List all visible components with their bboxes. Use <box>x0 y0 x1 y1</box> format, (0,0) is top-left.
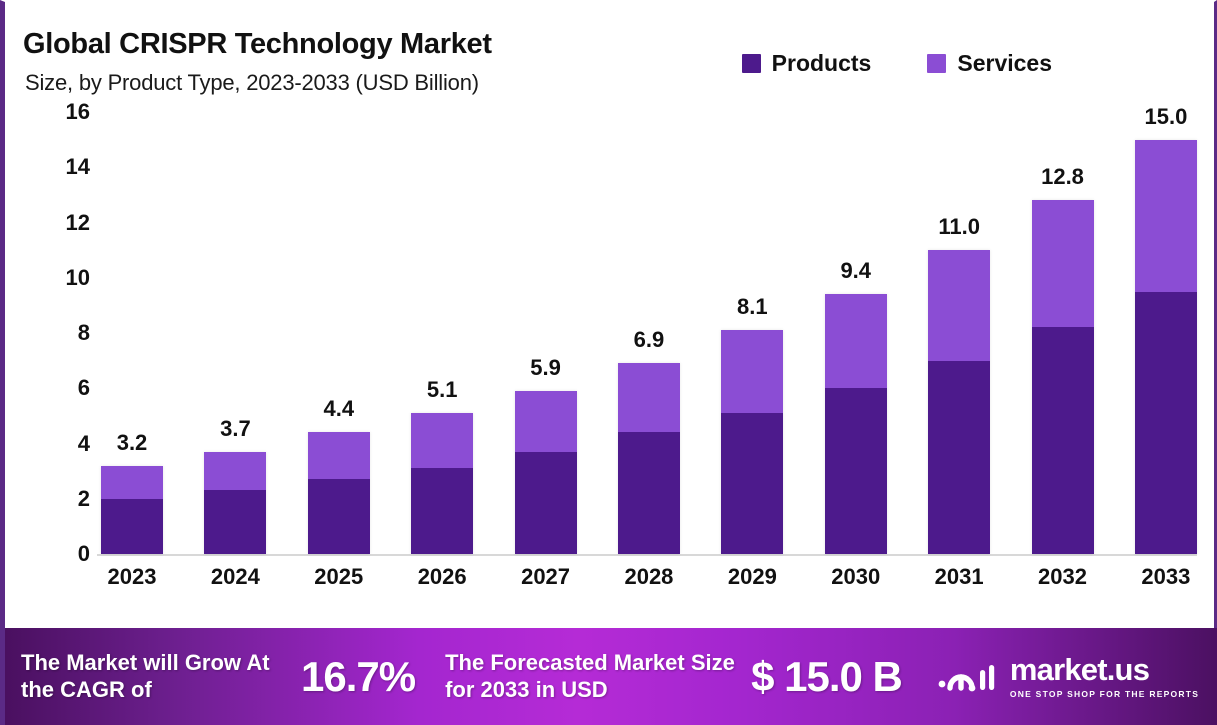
x-axis-line <box>97 554 1197 556</box>
bar-value-label: 5.9 <box>530 355 561 381</box>
bar-segment-products[interactable] <box>204 490 266 554</box>
bar-value-label: 3.7 <box>220 416 251 442</box>
y-axis-tick: 4 <box>78 431 90 457</box>
stacked-bar[interactable] <box>721 330 783 554</box>
legend-swatch-icon <box>742 54 761 73</box>
stacked-bar[interactable] <box>1032 200 1094 554</box>
bar-segment-services[interactable] <box>1135 140 1197 292</box>
bar-group-2026[interactable]: 5.1 <box>411 112 473 554</box>
bar-segment-services[interactable] <box>618 363 680 432</box>
y-axis: 0246810121416 <box>45 112 90 557</box>
stacked-bar[interactable] <box>618 363 680 554</box>
bar-group-2028[interactable]: 6.9 <box>618 112 680 554</box>
bar-value-label: 6.9 <box>634 327 665 353</box>
stacked-bar[interactable] <box>1135 140 1197 554</box>
y-axis-tick: 14 <box>66 154 90 180</box>
bar-segment-services[interactable] <box>825 294 887 388</box>
bar-segment-products[interactable] <box>411 468 473 554</box>
bar-group-2027[interactable]: 5.9 <box>515 112 577 554</box>
x-axis-tick: 2030 <box>825 564 887 610</box>
bar-value-label: 11.0 <box>938 214 980 240</box>
bar-segment-products[interactable] <box>928 361 990 554</box>
x-axis-tick: 2031 <box>928 564 990 610</box>
bar-group-2024[interactable]: 3.7 <box>204 112 266 554</box>
bar-segment-services[interactable] <box>1032 200 1094 327</box>
bar-group-2031[interactable]: 11.0 <box>928 112 990 554</box>
bar-group-2023[interactable]: 3.2 <box>101 112 163 554</box>
stacked-bar[interactable] <box>204 452 266 554</box>
x-axis-tick: 2027 <box>515 564 577 610</box>
x-axis-tick: 2029 <box>721 564 783 610</box>
plot-area: 0246810121416 3.23.74.45.15.96.98.19.411… <box>5 112 1217 622</box>
stacked-bar[interactable] <box>825 294 887 554</box>
x-axis-tick: 2032 <box>1032 564 1094 610</box>
y-axis-tick: 12 <box>66 210 90 236</box>
bar-group-2030[interactable]: 9.4 <box>825 112 887 554</box>
forecast-value: $ 15.0 B <box>751 651 902 702</box>
cagr-label: The Market will Grow At the CAGR of <box>21 650 299 704</box>
stacked-bar[interactable] <box>308 432 370 554</box>
page-subtitle: Size, by Product Type, 2023-2033 (USD Bi… <box>25 70 479 96</box>
bar-segment-services[interactable] <box>204 452 266 491</box>
bar-segment-services[interactable] <box>721 330 783 413</box>
legend-item-products[interactable]: Products <box>742 50 872 77</box>
bar-segment-services[interactable] <box>308 432 370 479</box>
bar-value-label: 8.1 <box>737 294 768 320</box>
bar-segment-products[interactable] <box>1032 327 1094 554</box>
brand-name: market.us <box>1010 654 1199 685</box>
x-axis-tick: 2025 <box>308 564 370 610</box>
bar-segment-products[interactable] <box>101 499 163 554</box>
chart-header: Global CRISPR Technology Market Size, by… <box>5 2 1217 112</box>
stacked-bar[interactable] <box>411 413 473 554</box>
cagr-value: 16.7% <box>301 651 415 702</box>
y-axis-tick: 8 <box>78 320 90 346</box>
bar-value-label: 12.8 <box>1041 164 1084 190</box>
stacked-bar[interactable] <box>928 250 990 554</box>
bar-group-2032[interactable]: 12.8 <box>1032 112 1094 554</box>
forecast-label: The Forecasted Market Size for 2033 in U… <box>445 650 745 704</box>
brand-text: market.us ONE STOP SHOP FOR THE REPORTS <box>1010 654 1199 699</box>
bar-value-label: 3.2 <box>117 430 148 456</box>
bar-value-label: 9.4 <box>840 258 871 284</box>
stacked-bar[interactable] <box>101 466 163 554</box>
bar-value-label: 4.4 <box>323 396 354 422</box>
bar-segment-products[interactable] <box>308 479 370 554</box>
bar-value-label: 5.1 <box>427 377 458 403</box>
bar-segment-products[interactable] <box>721 413 783 554</box>
footer-banner: The Market will Grow At the CAGR of 16.7… <box>5 628 1217 725</box>
x-axis-tick: 2033 <box>1135 564 1197 610</box>
x-axis-tick: 2026 <box>411 564 473 610</box>
bar-series-container: 3.23.74.45.15.96.98.19.411.012.815.0 <box>101 112 1197 554</box>
chart-page: Global CRISPR Technology Market Size, by… <box>0 0 1217 725</box>
bar-group-2029[interactable]: 8.1 <box>721 112 783 554</box>
y-axis-tick: 2 <box>78 486 90 512</box>
bar-segment-services[interactable] <box>515 391 577 452</box>
market-us-logo-icon <box>936 657 998 697</box>
x-axis-tick: 2028 <box>618 564 680 610</box>
bar-segment-services[interactable] <box>928 250 990 361</box>
chart-legend: ProductsServices <box>742 50 1052 77</box>
legend-label: Products <box>772 50 872 77</box>
legend-label: Services <box>957 50 1052 77</box>
bar-value-label: 15.0 <box>1144 104 1187 130</box>
bar-group-2025[interactable]: 4.4 <box>308 112 370 554</box>
legend-item-services[interactable]: Services <box>927 50 1052 77</box>
x-axis-tick: 2024 <box>204 564 266 610</box>
bar-segment-products[interactable] <box>825 388 887 554</box>
bar-segment-services[interactable] <box>101 466 163 499</box>
y-axis-tick: 10 <box>66 265 90 291</box>
bar-segment-products[interactable] <box>1135 292 1197 554</box>
brand-logo: market.us ONE STOP SHOP FOR THE REPORTS <box>936 654 1199 699</box>
page-title: Global CRISPR Technology Market <box>23 28 492 61</box>
y-axis-tick: 6 <box>78 375 90 401</box>
x-axis: 2023202420252026202720282029203020312032… <box>101 564 1197 610</box>
bar-segment-products[interactable] <box>515 452 577 554</box>
bar-segment-services[interactable] <box>411 413 473 468</box>
x-axis-tick: 2023 <box>101 564 163 610</box>
bar-group-2033[interactable]: 15.0 <box>1135 112 1197 554</box>
legend-swatch-icon <box>927 54 946 73</box>
y-axis-tick: 0 <box>78 541 90 567</box>
stacked-bar[interactable] <box>515 391 577 554</box>
bar-segment-products[interactable] <box>618 432 680 554</box>
y-axis-tick: 16 <box>66 99 90 125</box>
brand-tagline: ONE STOP SHOP FOR THE REPORTS <box>1010 689 1199 699</box>
